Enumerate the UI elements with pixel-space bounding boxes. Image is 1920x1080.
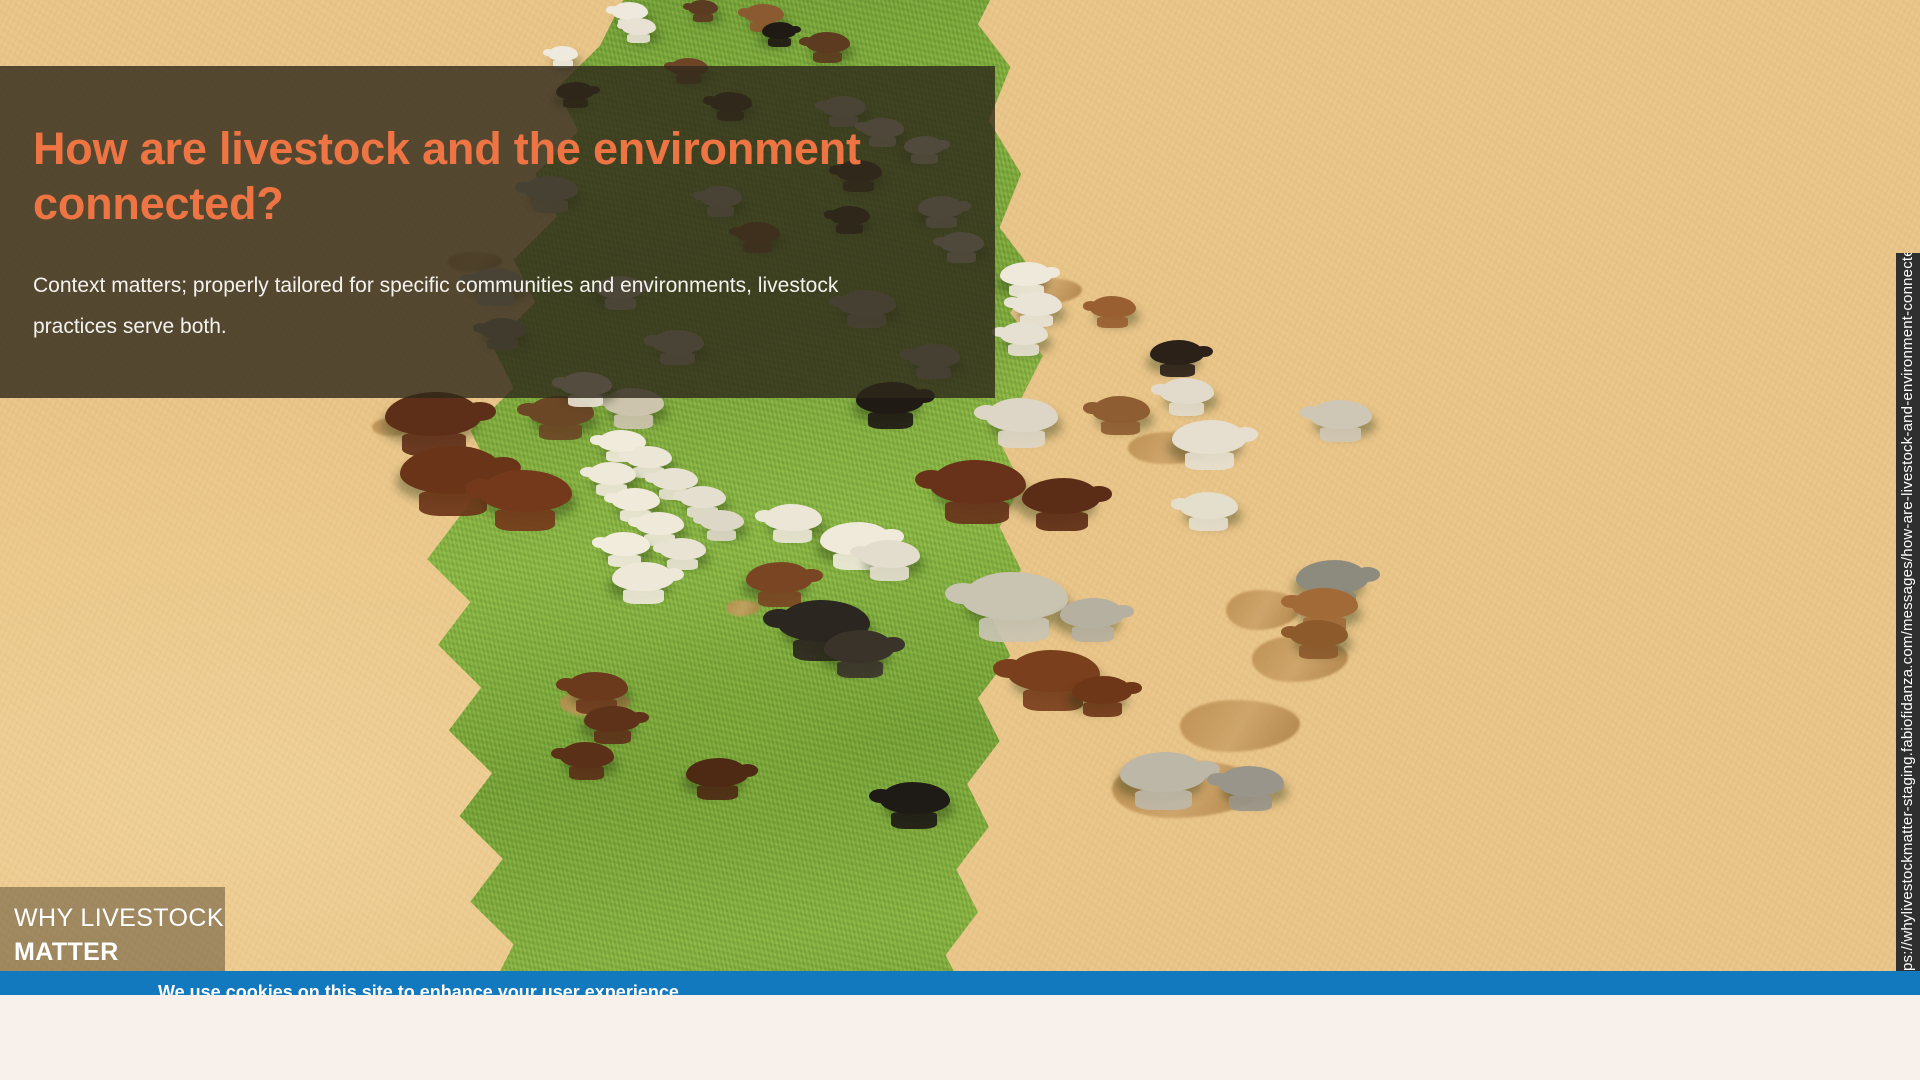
animal	[764, 504, 822, 531]
animal	[686, 758, 748, 787]
animal	[548, 46, 578, 61]
animal	[688, 0, 718, 15]
animal	[1180, 492, 1238, 519]
page-title: How are livestock and the environment co…	[33, 122, 863, 232]
animal	[612, 2, 648, 20]
animal	[1092, 396, 1150, 423]
animal	[1160, 378, 1214, 404]
animal	[700, 510, 744, 531]
animal	[1072, 676, 1132, 704]
cookie-banner-message: We use cookies on this site to enhance y…	[158, 981, 679, 995]
animal	[860, 540, 920, 568]
animal	[1000, 322, 1048, 345]
animal	[1310, 400, 1372, 429]
animal	[824, 630, 894, 663]
animal	[600, 532, 650, 556]
animal	[746, 562, 812, 593]
animal	[612, 488, 660, 511]
animal	[566, 672, 628, 701]
animal	[1150, 340, 1204, 365]
animal	[1172, 420, 1246, 454]
page-content-area	[0, 995, 1920, 1080]
animal	[636, 512, 684, 535]
animal	[626, 446, 672, 468]
animal	[1060, 598, 1124, 628]
animal	[660, 538, 706, 560]
animal	[622, 18, 656, 35]
hero-text-overlay: How are livestock and the environment co…	[0, 66, 995, 398]
animal	[588, 462, 636, 485]
page-stage: How are livestock and the environment co…	[0, 0, 1920, 1080]
animal	[1090, 296, 1136, 318]
animal	[680, 486, 726, 508]
animal	[1218, 766, 1284, 797]
animal	[1000, 262, 1052, 286]
animal	[1120, 752, 1206, 792]
site-logo-line-1: WHY LIVESTOCK	[14, 901, 225, 935]
animal	[986, 398, 1058, 432]
animal	[385, 392, 481, 436]
animal	[762, 22, 796, 39]
animal	[1012, 292, 1062, 316]
animal	[806, 32, 850, 53]
page-subtitle: Context matters; properly tailored for s…	[33, 266, 913, 348]
animal	[560, 742, 614, 768]
animal	[612, 562, 674, 591]
hero-image: How are livestock and the environment co…	[0, 0, 1920, 995]
cookie-consent-banner[interactable]: We use cookies on this site to enhance y…	[0, 971, 1920, 995]
animal	[1022, 478, 1100, 514]
animal	[584, 706, 640, 732]
animal	[1290, 620, 1348, 647]
page-url-tag: ps://whylivestockmatter-staging.fabiofid…	[1896, 253, 1920, 971]
animal	[1292, 588, 1358, 619]
site-logo-line-2: MATTER	[14, 935, 225, 969]
animal	[744, 4, 784, 23]
animal	[880, 782, 950, 814]
